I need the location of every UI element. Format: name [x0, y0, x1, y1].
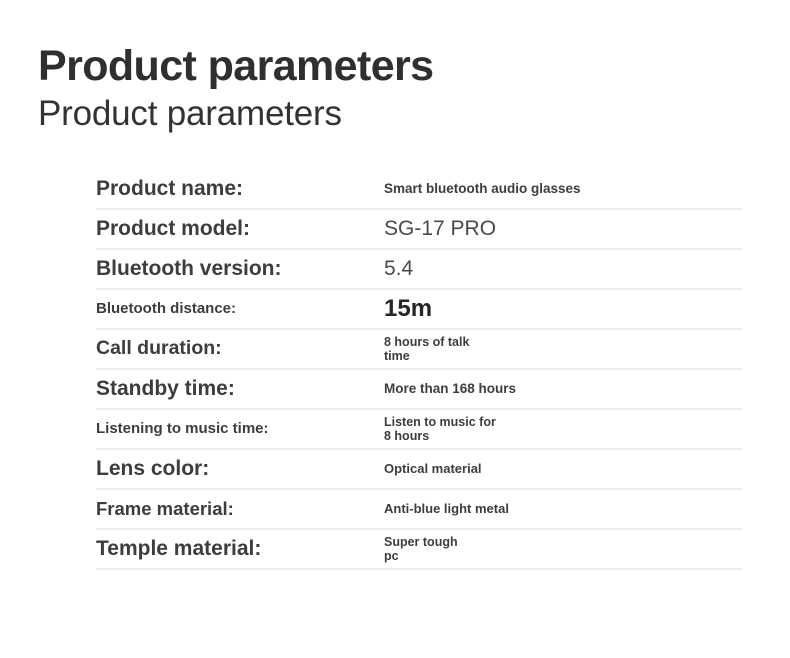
spec-value-bluetooth-version: 5.4: [384, 257, 742, 281]
table-row: Standby time: More than 168 hours: [96, 370, 742, 410]
spec-label-call-duration: Call duration:: [96, 338, 384, 359]
spec-label-bluetooth-version: Bluetooth version:: [96, 257, 384, 280]
spec-label-lens-color: Lens color:: [96, 457, 384, 480]
spec-value-listening-to-music-time: Listen to music for 8 hours: [384, 415, 742, 444]
spec-label-listening-to-music-time: Listening to music time:: [96, 421, 384, 438]
table-row: Temple material: Super tough pc: [96, 530, 742, 570]
spec-label-temple-material: Temple material:: [96, 537, 384, 560]
spec-value-standby-time: More than 168 hours: [384, 381, 742, 397]
spec-label-product-name: Product name:: [96, 177, 384, 200]
table-row: Frame material: Anti-blue light metal: [96, 490, 742, 530]
table-row: Bluetooth distance: 15m: [96, 290, 742, 330]
heading-block: Product parameters Product parameters: [38, 44, 433, 135]
table-row: Product model: SG-17 PRO: [96, 210, 742, 250]
spec-table: Product name: Smart bluetooth audio glas…: [96, 170, 742, 570]
spec-value-bluetooth-distance: 15m: [384, 295, 742, 323]
spec-value-lens-color: Optical material: [384, 462, 742, 477]
product-parameters-page: Product parameters Product parameters Pr…: [0, 0, 790, 658]
table-row: Call duration: 8 hours of talk time: [96, 330, 742, 370]
spec-label-frame-material: Frame material:: [96, 499, 384, 519]
spec-value-call-duration: 8 hours of talk time: [384, 335, 742, 364]
table-row: Lens color: Optical material: [96, 450, 742, 490]
spec-label-bluetooth-distance: Bluetooth distance:: [96, 301, 384, 318]
spec-label-product-model: Product model:: [96, 217, 384, 240]
table-row: Bluetooth version: 5.4: [96, 250, 742, 290]
spec-value-product-name: Smart bluetooth audio glasses: [384, 181, 742, 197]
spec-value-product-model: SG-17 PRO: [384, 217, 742, 241]
spec-label-standby-time: Standby time:: [96, 377, 384, 400]
spec-value-temple-material: Super tough pc: [384, 535, 742, 564]
spec-value-frame-material: Anti-blue light metal: [384, 502, 742, 517]
page-title: Product parameters: [38, 44, 433, 89]
table-row: Listening to music time: Listen to music…: [96, 410, 742, 450]
page-subtitle: Product parameters: [38, 93, 433, 135]
table-row: Product name: Smart bluetooth audio glas…: [96, 170, 742, 210]
